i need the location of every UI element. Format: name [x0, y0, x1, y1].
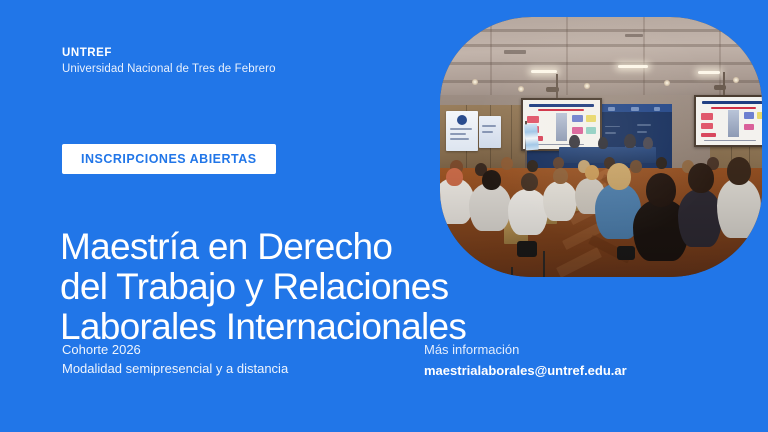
photo-scene	[440, 17, 762, 277]
headline-line-2: del Trabajo y Relaciones	[60, 267, 466, 307]
audience-head	[446, 168, 463, 186]
audience-person	[543, 181, 577, 221]
banner-stand	[446, 111, 478, 151]
audience-head	[656, 157, 667, 169]
brand-acronym: UNTREF	[62, 46, 276, 61]
audience-person	[508, 189, 548, 235]
page-title: Maestría en Derecho del Trabajo y Relaci…	[60, 227, 466, 348]
footer: Cohorte 2026 Modalidad semipresencial y …	[0, 341, 768, 389]
projector-right	[714, 85, 726, 90]
panelist	[598, 137, 608, 149]
argentine-flag	[524, 123, 539, 150]
headline-line-3: Laborales Internacionales	[60, 307, 466, 347]
status-badge: INSCRIPCIONES ABIERTAS	[62, 144, 276, 174]
conference-photo	[440, 17, 762, 277]
audience-head	[521, 173, 538, 191]
audience-head	[482, 170, 501, 190]
panelist	[643, 137, 653, 149]
audience-head	[553, 168, 568, 184]
backpack	[517, 241, 537, 257]
audience-person-foreground	[717, 178, 761, 238]
brand-name: Universidad Nacional de Tres de Febrero	[62, 62, 276, 77]
audience-head	[607, 163, 631, 190]
contact-email[interactable]: maestrialaborales@untref.edu.ar	[424, 362, 627, 381]
audience-head	[585, 165, 599, 180]
panelist	[624, 134, 636, 148]
backpack	[617, 246, 635, 260]
audience-head	[527, 160, 538, 172]
banner-stand-secondary	[479, 116, 501, 148]
audience-head	[630, 160, 642, 173]
audience-head	[727, 157, 751, 185]
panelist	[569, 135, 580, 148]
brand-lockup: UNTREF Universidad Nacional de Tres de F…	[62, 46, 276, 77]
projector-arm-right	[723, 72, 725, 95]
audience-head	[646, 173, 676, 207]
audience-person	[469, 183, 511, 231]
ceiling	[440, 17, 762, 103]
poster-canvas: UNTREF Universidad Nacional de Tres de F…	[0, 0, 768, 432]
projection-screen-right	[694, 95, 762, 147]
projector-left	[546, 87, 559, 92]
headline-line-1: Maestría en Derecho	[60, 227, 466, 267]
modality: Modalidad semipresencial y a distancia	[62, 360, 288, 379]
audience-person-foreground	[678, 189, 722, 247]
audience-head	[688, 163, 714, 193]
projector-arm-left	[556, 74, 558, 97]
